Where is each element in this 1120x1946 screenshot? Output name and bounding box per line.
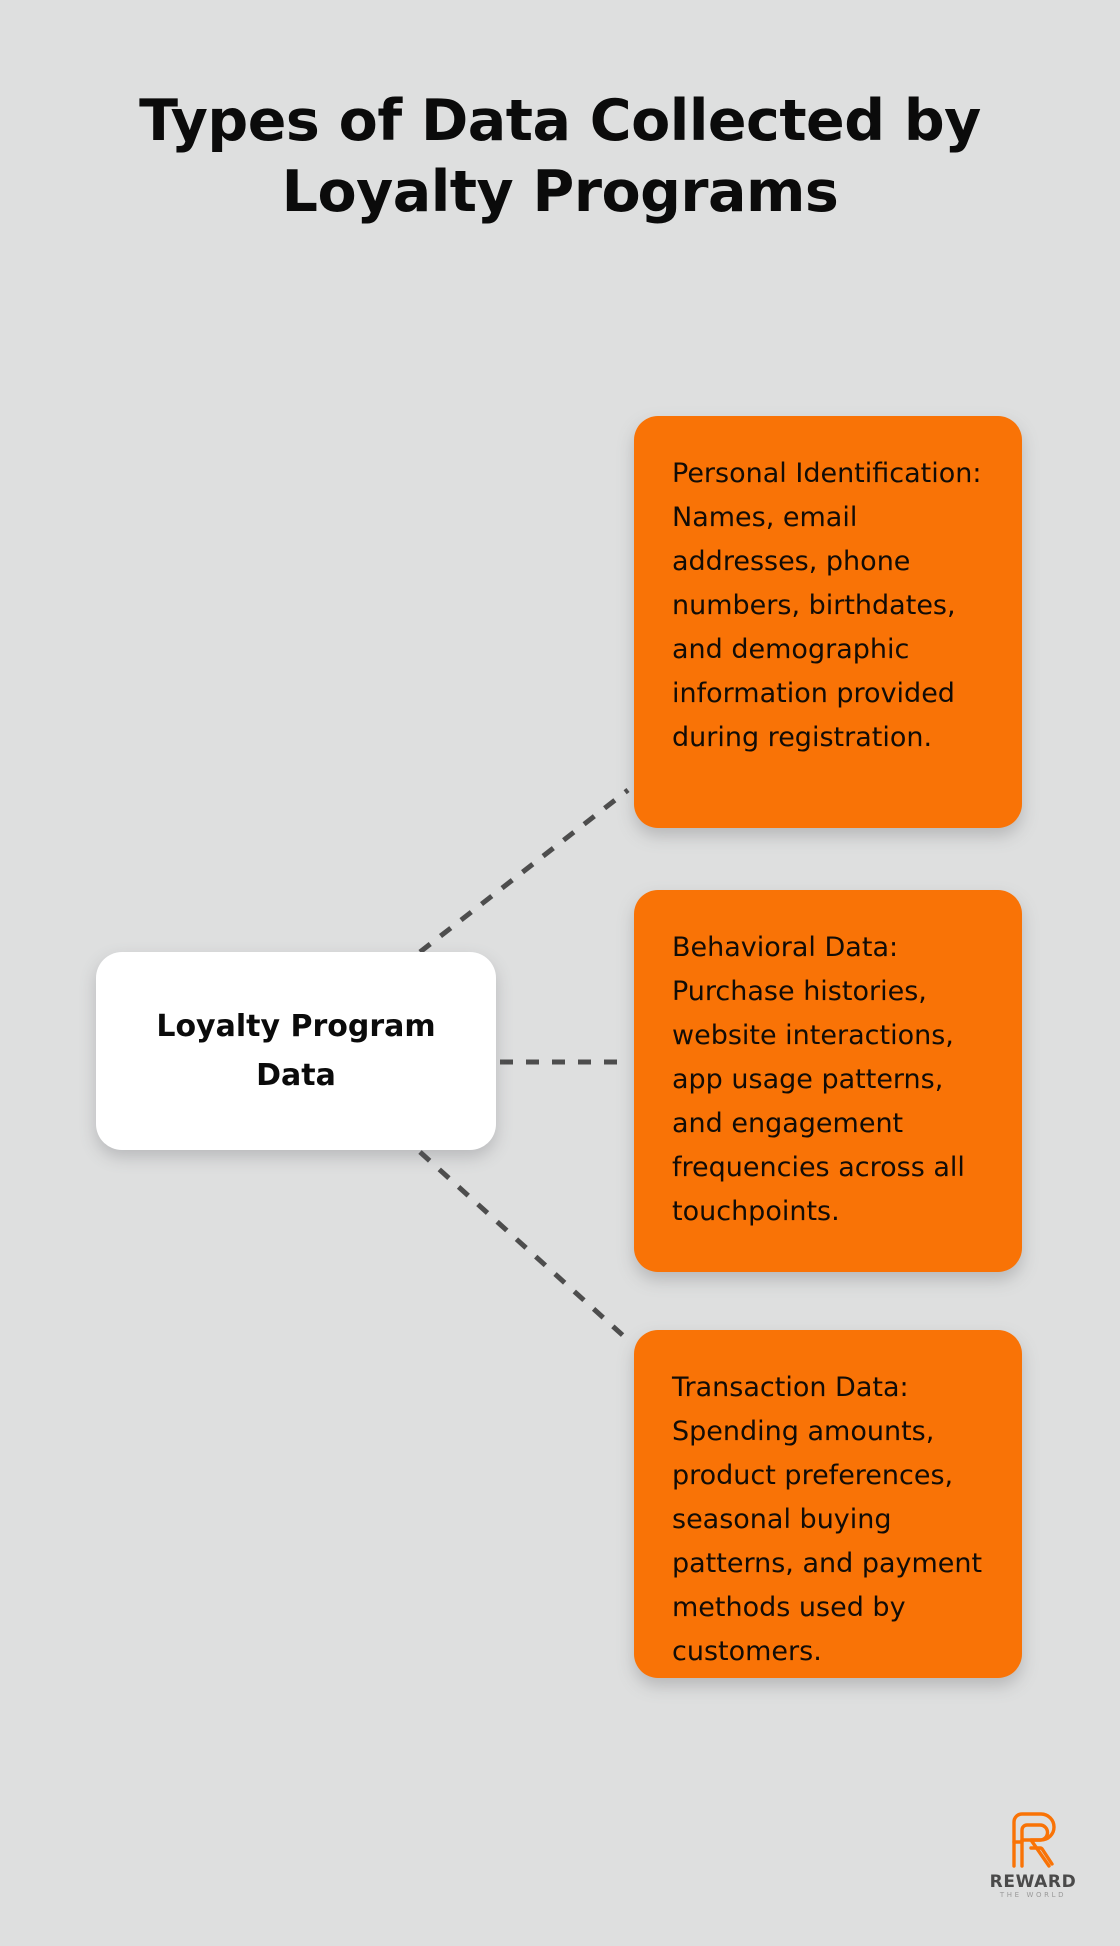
center-node-label: Loyalty Program Data (151, 1002, 441, 1100)
connector-to-card-1 (420, 790, 628, 952)
connector-to-card-3 (420, 1152, 628, 1340)
page-title: Types of Data Collected by Loyalty Progr… (90, 86, 1030, 228)
personal-identification-card-text: Personal Identification: Names, email ad… (672, 452, 984, 760)
logo-tagline: THE WORLD (1000, 1891, 1066, 1900)
page-title-line-1: Types of Data Collected by (90, 86, 1030, 157)
page-title-line-2: Loyalty Programs (90, 157, 1030, 228)
behavioral-data-card[interactable]: Behavioral Data: Purchase histories, web… (634, 890, 1022, 1272)
behavioral-data-card-text: Behavioral Data: Purchase histories, web… (672, 926, 984, 1234)
transaction-data-card[interactable]: Transaction Data: Spending amounts, prod… (634, 1330, 1022, 1678)
center-node[interactable]: Loyalty Program Data (96, 952, 496, 1150)
personal-identification-card[interactable]: Personal Identification: Names, email ad… (634, 416, 1022, 828)
transaction-data-card-text: Transaction Data: Spending amounts, prod… (672, 1366, 984, 1674)
logo-wordmark: REWARD (990, 1873, 1077, 1891)
infographic-canvas: Types of Data Collected by Loyalty Progr… (0, 0, 1120, 1946)
brand-logo: REWARD THE WORLD (985, 1808, 1081, 1912)
reward-r-monogram-icon (1001, 1808, 1065, 1870)
